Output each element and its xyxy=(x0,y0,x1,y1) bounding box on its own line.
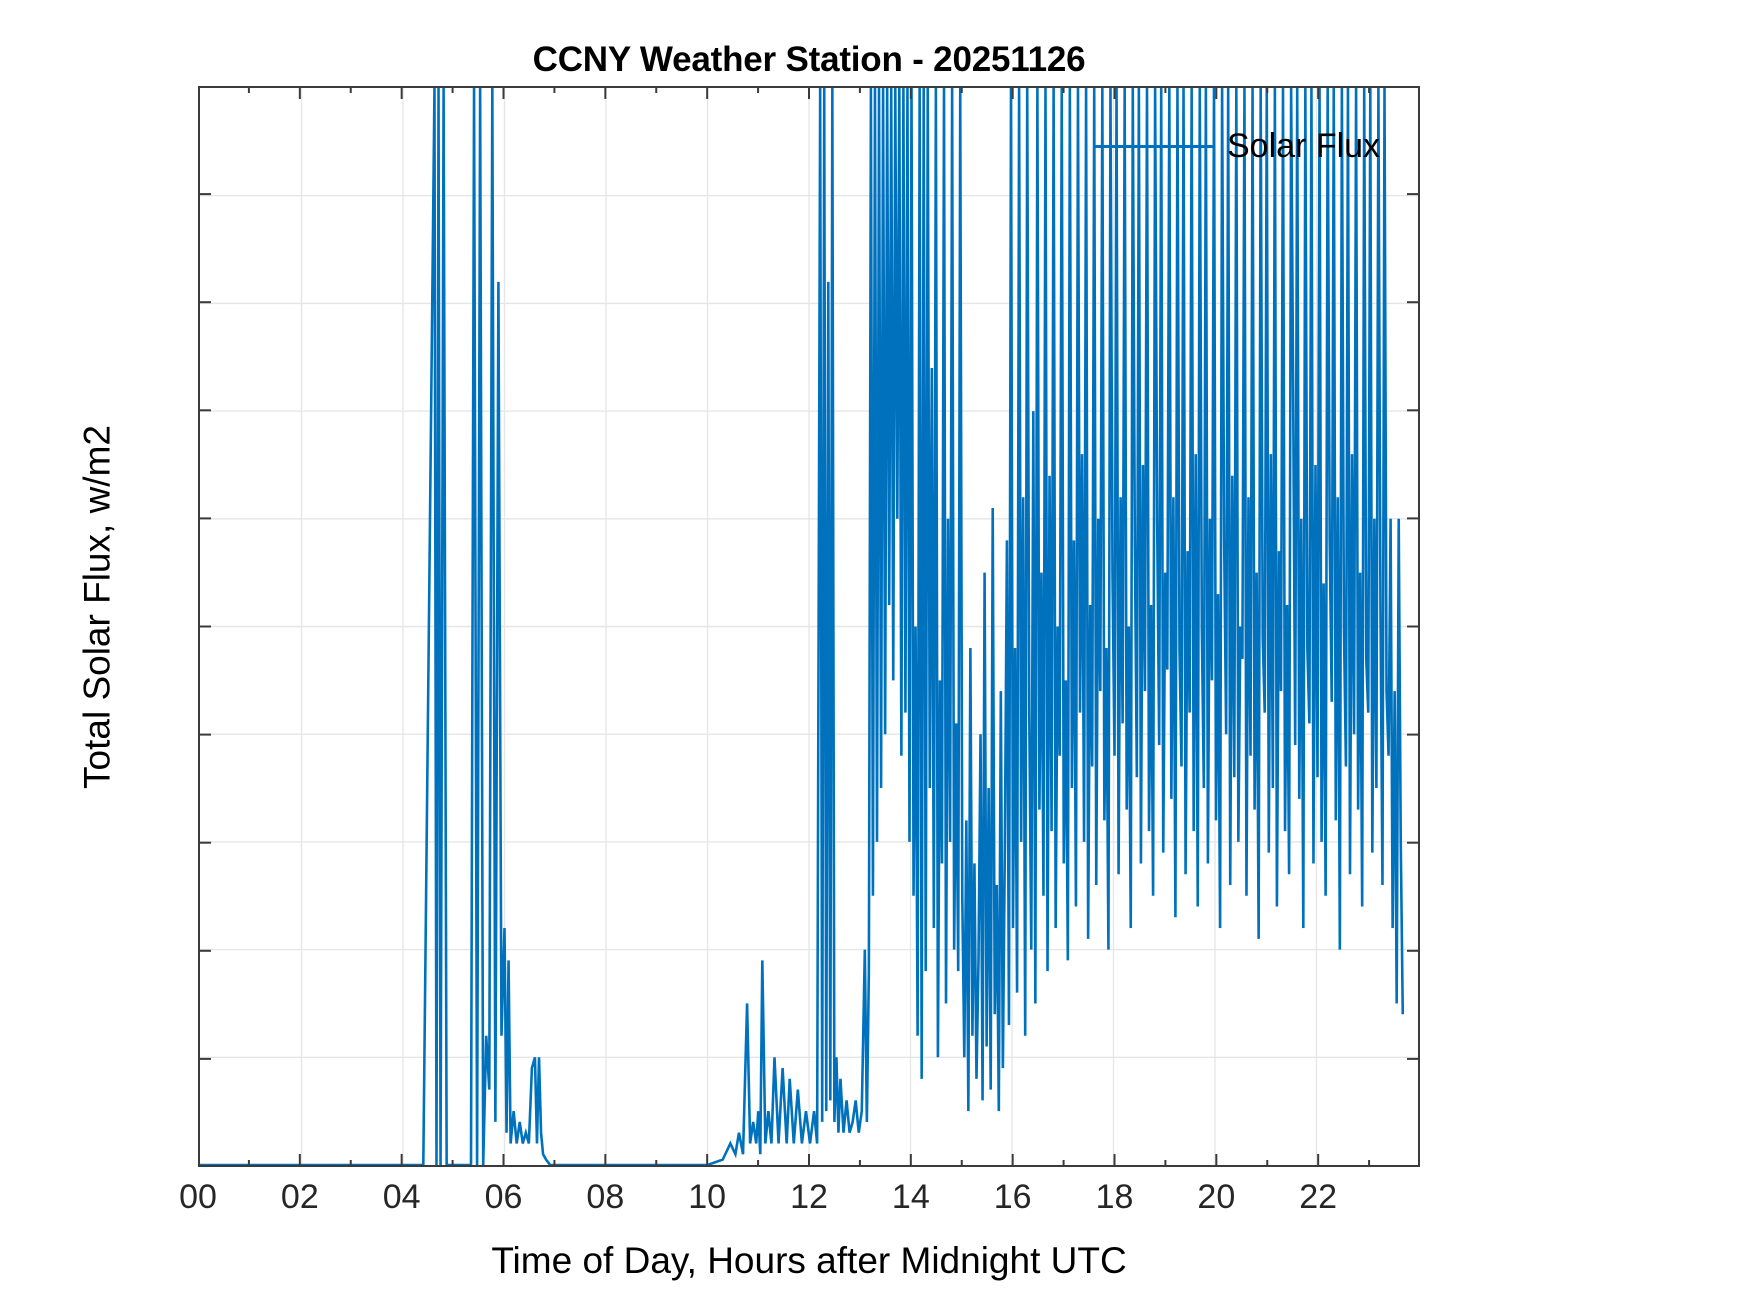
page-title: CCNY Weather Station - 20251126 xyxy=(198,40,1420,80)
legend-line-solar-flux xyxy=(1095,145,1213,148)
plot-area xyxy=(198,86,1420,1167)
figure-canvas: CCNY Weather Station - 20251126 00.10.20… xyxy=(0,0,1750,1313)
legend: Solar Flux xyxy=(1095,124,1380,168)
x-tick-label: 10 xyxy=(688,1180,726,1214)
x-tick-label: 00 xyxy=(179,1180,217,1214)
x-tick-label: 20 xyxy=(1197,1180,1235,1214)
x-axis-tick-labels: 000204060810121416182022 xyxy=(0,1180,1750,1230)
x-tick-label: 06 xyxy=(485,1180,523,1214)
x-tick-label: 16 xyxy=(994,1180,1032,1214)
x-tick-label: 04 xyxy=(383,1180,421,1214)
x-tick-label: 18 xyxy=(1096,1180,1134,1214)
x-axis-title: Time of Day, Hours after Midnight UTC xyxy=(198,1240,1420,1282)
x-tick-label: 22 xyxy=(1299,1180,1337,1214)
legend-label-solar-flux: Solar Flux xyxy=(1227,127,1380,166)
y-axis-title: Total Solar Flux, w/m2 xyxy=(77,67,119,1148)
x-tick-label: 12 xyxy=(790,1180,828,1214)
x-tick-label: 02 xyxy=(281,1180,319,1214)
x-tick-label: 14 xyxy=(892,1180,930,1214)
solar-flux-series xyxy=(200,88,1418,1165)
x-tick-label: 08 xyxy=(586,1180,624,1214)
